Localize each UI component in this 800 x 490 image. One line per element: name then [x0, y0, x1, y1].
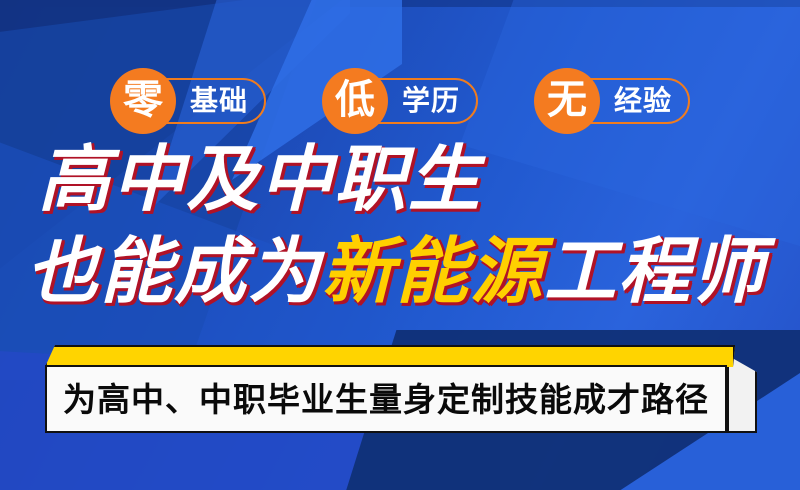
badge-circle-2: 低	[322, 68, 388, 134]
badge-circle-label-1: 零	[123, 80, 163, 120]
badge-pill-label-1: 基础	[190, 87, 248, 115]
badge-row: 基础 零 学历 低 经验 无	[0, 64, 800, 138]
headline-line-2: 也能成为新能源工程师	[26, 236, 766, 308]
ribbon-yellow-cap	[45, 345, 735, 367]
badge-pill-label-3: 经验	[614, 87, 672, 115]
subtitle-text: 为高中、中职毕业生量身定制技能成才路径	[63, 383, 709, 416]
headline-line-2-suffix: 工程师	[544, 232, 766, 312]
badge-circle-3: 无	[534, 68, 600, 134]
subtitle-ribbon: 为高中、中职毕业生量身定制技能成才路径	[45, 345, 757, 433]
badge-low-education: 学历 低	[322, 66, 478, 136]
headline-line-1-text: 高中及中职生	[38, 140, 482, 220]
headline-line-2-highlight: 新能源	[322, 232, 544, 312]
bg-top-strip	[0, 0, 800, 7]
badge-circle-label-2: 低	[335, 80, 375, 120]
badge-circle-1: 零	[110, 68, 176, 134]
badge-pill-label-2: 学历	[402, 87, 460, 115]
badge-circle-label-3: 无	[547, 80, 587, 120]
ribbon-text-box: 为高中、中职毕业生量身定制技能成才路径	[45, 365, 727, 433]
badge-zero-foundation: 基础 零	[110, 66, 266, 136]
headline-line-1: 高中及中职生	[38, 144, 482, 216]
promo-banner: 基础 零 学历 低 经验 无 高中及中职生	[0, 0, 800, 490]
badge-no-experience: 经验 无	[534, 66, 690, 136]
headline-line-2-prefix: 也能成为	[26, 232, 322, 312]
